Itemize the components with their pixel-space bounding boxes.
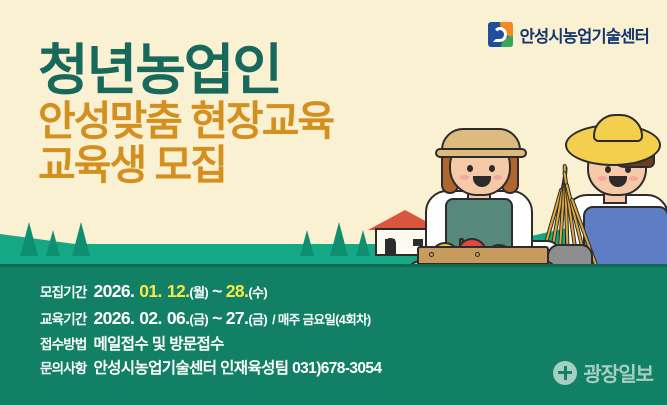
info-end-weekday: (금) (248, 312, 267, 328)
info-schedule-note: / 매주 금요일(4회차) (272, 313, 370, 329)
info-month: 02. (139, 308, 162, 330)
cheek (493, 175, 502, 180)
tree-icon (330, 222, 348, 256)
info-label: 교육기간 (40, 312, 86, 329)
info-row-recruitment-period: 모집기간 2026. 01. 12. (월) ~ 28. (수) (40, 281, 381, 303)
straw-hat-crown-icon (593, 114, 643, 142)
headline-line-1: 청년농업인 (38, 42, 333, 98)
watermark-text: 광장일보 (583, 358, 653, 387)
house-door (385, 238, 396, 256)
mouth (473, 176, 491, 187)
crate-nail (475, 252, 480, 257)
info-end-weekday: (수) (248, 285, 267, 301)
headline-line-3: 교육생 모집 (38, 145, 333, 187)
promotional-poster: 안성시농업기술센터 청년농업인 안성맞춤 현장교육 교육생 모집 (0, 0, 667, 405)
tree-icon (356, 230, 370, 256)
tree-icon (20, 222, 38, 256)
info-end-day: 27. (226, 308, 249, 330)
info-row-contact: 문의사항 안성시농업기술센터 인재육성팀 031)678-3054 (40, 359, 381, 378)
eye (467, 165, 473, 172)
cheek (460, 175, 469, 180)
info-panel: 모집기간 2026. 01. 12. (월) ~ 28. (수) 교육기간 20… (0, 264, 667, 405)
headline-block: 청년농업인 안성맞춤 현장교육 교육생 모집 (38, 42, 333, 187)
info-day: 12. (167, 281, 190, 303)
info-month: 01. (139, 281, 162, 303)
farmers-illustration (397, 120, 667, 288)
anseong-agriculture-emblem-icon (488, 22, 513, 47)
info-year: 2026. (93, 308, 134, 330)
info-tilde: ~ (212, 281, 222, 303)
organization-name: 안성시농업기술센터 (520, 23, 649, 47)
info-label: 문의사항 (40, 361, 86, 378)
eye (489, 165, 495, 172)
gwangjang-ilbo-logo-icon (553, 361, 577, 385)
info-year: 2026. (93, 281, 134, 303)
tree-icon (300, 230, 314, 256)
tree-icon (46, 230, 60, 256)
info-label: 접수방법 (40, 337, 86, 354)
tree-icon (72, 222, 90, 256)
bucket-hat-brim-icon (435, 148, 527, 158)
info-day: 06. (167, 308, 190, 330)
info-label: 모집기간 (40, 285, 86, 302)
cheek (629, 176, 638, 181)
organization-logo: 안성시농업기술센터 (488, 22, 649, 47)
hill-slope-left (0, 234, 120, 250)
info-end-day: 28. (226, 281, 249, 303)
info-list: 모집기간 2026. 01. 12. (월) ~ 28. (수) 교육기간 20… (40, 281, 381, 379)
headline-line-2: 안성맞춤 현장교육 (38, 101, 333, 143)
info-row-education-period: 교육기간 2026. 02. 06. (금) ~ 27. (금) / 매주 금요… (40, 308, 381, 330)
info-day-weekday: (월) (189, 285, 208, 301)
crate-nail (429, 252, 434, 257)
watermark: 광장일보 (553, 358, 653, 387)
emblem-swirl (493, 27, 507, 42)
info-value: 메일접수 및 방문접수 (93, 335, 223, 354)
info-day-weekday: (금) (189, 312, 208, 328)
info-tilde: ~ (212, 308, 222, 330)
info-value: 안성시농업기술센터 인재육성팀 031)678-3054 (93, 359, 381, 378)
info-row-application-method: 접수방법 메일접수 및 방문접수 (40, 335, 381, 354)
